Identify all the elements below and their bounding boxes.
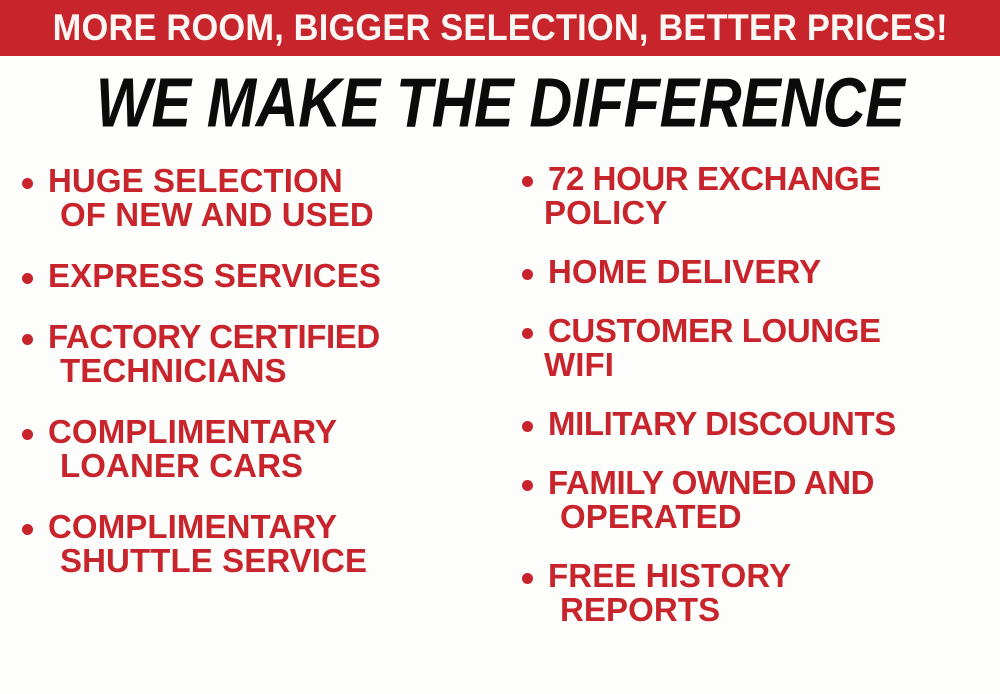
list-item: HUGE SELECTION OF NEW AND USED bbox=[14, 164, 500, 232]
list-item: EXPRESS SERVICES bbox=[14, 259, 500, 293]
bullet-dot-icon bbox=[22, 178, 33, 189]
list-item-text: 72 HOUR EXCHANGE POLICY bbox=[548, 162, 1000, 230]
list-item-line: OPERATED bbox=[548, 500, 1000, 534]
promo-banner-text: MORE ROOM, BIGGER SELECTION, BETTER PRIC… bbox=[52, 9, 947, 48]
list-item: HOME DELIVERY bbox=[514, 255, 1000, 289]
list-item: COMPLIMENTARY SHUTTLE SERVICE bbox=[14, 510, 500, 578]
bullet-dot-icon bbox=[522, 421, 533, 432]
bullet-dot-icon bbox=[22, 429, 33, 440]
list-item: COMPLIMENTARY LOANER CARS bbox=[14, 415, 500, 483]
list-item-line: FAMILY OWNED AND bbox=[548, 466, 1000, 500]
list-item-text: FAMILY OWNED AND OPERATED bbox=[548, 466, 1000, 534]
list-item-text: COMPLIMENTARY LOANER CARS bbox=[48, 415, 500, 483]
benefits-column-left: HUGE SELECTION OF NEW AND USED EXPRESS S… bbox=[0, 158, 500, 605]
bullet-dot-icon bbox=[522, 328, 533, 339]
list-item: FACTORY CERTIFIED TECHNICIANS bbox=[14, 320, 500, 388]
list-item-text: COMPLIMENTARY SHUTTLE SERVICE bbox=[48, 510, 500, 578]
list-item-text: HOME DELIVERY bbox=[548, 255, 1000, 289]
list-item-line: CUSTOMER LOUNGE bbox=[548, 314, 1000, 348]
list-item-line: POLICY bbox=[544, 196, 1000, 230]
list-item-line: HUGE SELECTION bbox=[48, 164, 500, 198]
bullet-dot-icon bbox=[22, 273, 33, 284]
headline-container: WE MAKE THE DIFFERENCE bbox=[0, 62, 1000, 142]
list-item-line: MILITARY DISCOUNTS bbox=[548, 407, 1000, 441]
list-item: CUSTOMER LOUNGE WIFI bbox=[514, 314, 1000, 382]
list-item-line: COMPLIMENTARY bbox=[48, 510, 500, 544]
list-item-text: EXPRESS SERVICES bbox=[48, 259, 500, 293]
list-item-line: LOANER CARS bbox=[48, 449, 500, 483]
bullet-dot-icon bbox=[522, 176, 533, 187]
dealership-benefits-poster: MORE ROOM, BIGGER SELECTION, BETTER PRIC… bbox=[0, 0, 1000, 694]
list-item-line: HOME DELIVERY bbox=[548, 255, 1000, 289]
promo-banner: MORE ROOM, BIGGER SELECTION, BETTER PRIC… bbox=[0, 0, 1000, 56]
list-item-text: FACTORY CERTIFIED TECHNICIANS bbox=[48, 320, 500, 388]
bullet-dot-icon bbox=[22, 334, 33, 345]
list-item-line: COMPLIMENTARY bbox=[48, 415, 500, 449]
bullet-dot-icon bbox=[22, 524, 33, 535]
list-item-line: TECHNICIANS bbox=[48, 354, 500, 388]
list-item-line: WIFI bbox=[544, 348, 1000, 382]
list-item-line: SHUTTLE SERVICE bbox=[48, 544, 500, 578]
benefits-columns: HUGE SELECTION OF NEW AND USED EXPRESS S… bbox=[0, 158, 1000, 694]
benefits-column-right: 72 HOUR EXCHANGE POLICY HOME DELIVERY CU… bbox=[500, 158, 1000, 652]
list-item-text: MILITARY DISCOUNTS bbox=[548, 407, 1000, 441]
list-item-line: FACTORY CERTIFIED bbox=[48, 320, 500, 354]
list-item-line: 72 HOUR EXCHANGE bbox=[548, 162, 1000, 196]
list-item-line: FREE HISTORY bbox=[548, 559, 1000, 593]
list-item-line: EXPRESS SERVICES bbox=[48, 259, 500, 293]
list-item: FREE HISTORY REPORTS bbox=[514, 559, 1000, 627]
bullet-dot-icon bbox=[522, 480, 533, 491]
list-item-text: CUSTOMER LOUNGE WIFI bbox=[548, 314, 1000, 382]
list-item: MILITARY DISCOUNTS bbox=[514, 407, 1000, 441]
list-item: FAMILY OWNED AND OPERATED bbox=[514, 466, 1000, 534]
list-item-line: OF NEW AND USED bbox=[48, 198, 500, 232]
list-item-text: HUGE SELECTION OF NEW AND USED bbox=[48, 164, 500, 232]
bullet-dot-icon bbox=[522, 573, 533, 584]
list-item-line: REPORTS bbox=[548, 593, 1000, 627]
page-title: WE MAKE THE DIFFERENCE bbox=[96, 67, 905, 137]
list-item: 72 HOUR EXCHANGE POLICY bbox=[514, 162, 1000, 230]
list-item-text: FREE HISTORY REPORTS bbox=[548, 559, 1000, 627]
bullet-dot-icon bbox=[522, 269, 533, 280]
